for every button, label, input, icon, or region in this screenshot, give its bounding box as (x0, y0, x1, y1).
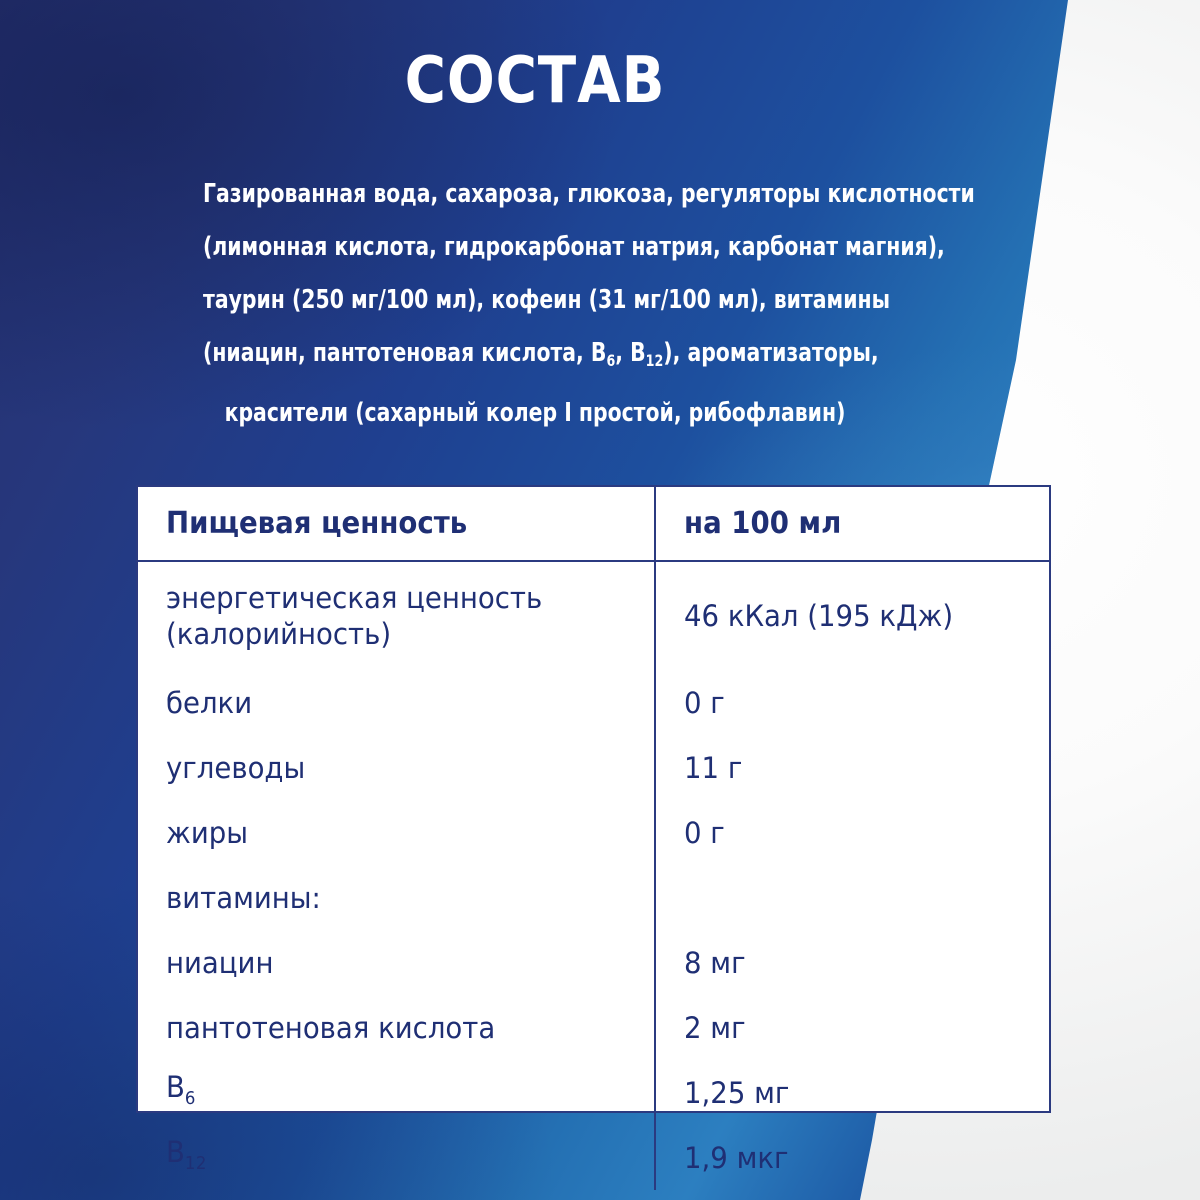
row-label-energy-line1: энергетическая ценность (166, 580, 542, 616)
table-header-row: Пищевая ценность на 100 мл (138, 487, 1049, 561)
vitamin-b6-subscript: 6 (606, 351, 615, 370)
row-label-pantothenic-acid-text: пантотеновая кислота (166, 1010, 495, 1046)
vitamin-b12-sub: 12 (185, 1153, 207, 1173)
row-label-carbohydrates: углеводы (138, 735, 655, 800)
table-row-vitamins-heading: витамины: (138, 865, 1049, 930)
row-value-pantothenic-acid: 2 мг (655, 995, 1049, 1060)
row-value-vitamin-b6: 1,25 мг (655, 1060, 1049, 1125)
row-value-pantothenic-acid-text: 2 мг (684, 1010, 746, 1046)
vitamin-b12-subscript: 12 (646, 351, 664, 370)
table-row-vitamin-b12: B12 1,9 мкг (138, 1125, 1049, 1190)
ingredients-line-4: (ниацин, пантотеновая кислота, B6, B12),… (203, 327, 867, 387)
table-row-energy: энергетическая ценность (калорийность) 4… (138, 561, 1049, 670)
row-label-vitamin-b12: B12 (138, 1125, 655, 1190)
row-value-protein: 0 г (655, 670, 1049, 735)
row-label-energy-line2: (калорийность) (166, 616, 542, 652)
row-value-fats: 0 г (655, 800, 1049, 865)
row-value-vitamin-b12-text: 1,9 мкг (684, 1140, 788, 1176)
row-label-niacin: ниацин (138, 930, 655, 995)
ingredients-paragraph: Газированная вода, сахароза, глюкоза, ре… (203, 168, 867, 440)
vitamin-b6-sub: 6 (185, 1088, 196, 1108)
table-row-vitamin-b6: B6 1,25 мг (138, 1060, 1049, 1125)
row-label-vitamin-b12-text: B12 (166, 1134, 207, 1182)
nutrition-table: Пищевая ценность на 100 мл энергетическа… (136, 485, 1051, 1113)
ingredients-line-2: (лимонная кислота, гидрокарбонат натрия,… (203, 221, 867, 274)
table-row-carbohydrates: углеводы 11 г (138, 735, 1049, 800)
row-label-energy: энергетическая ценность (калорийность) (138, 561, 655, 670)
row-value-fats-text: 0 г (684, 815, 725, 851)
header-label-text: Пищевая ценность (166, 506, 467, 541)
table-row-niacin: ниацин 8 мг (138, 930, 1049, 995)
row-label-vitamins-heading: витамины: (138, 865, 655, 930)
nutrition-label-canvas: СОСТАВ Газированная вода, сахароза, глюк… (0, 0, 1200, 1200)
header-value: на 100 мл (655, 487, 1049, 561)
row-value-protein-text: 0 г (684, 685, 725, 721)
row-value-carbohydrates-text: 11 г (684, 750, 742, 786)
ingredients-line-3: таурин (250 мг/100 мл), кофеин (31 мг/10… (203, 274, 867, 327)
row-label-protein: белки (138, 670, 655, 735)
table-row-fats: жиры 0 г (138, 800, 1049, 865)
row-label-fats: жиры (138, 800, 655, 865)
table-row-pantothenic-acid: пантотеновая кислота 2 мг (138, 995, 1049, 1060)
row-label-fats-text: жиры (166, 815, 248, 851)
ingredients-line-1: Газированная вода, сахароза, глюкоза, ре… (203, 168, 867, 221)
row-value-carbohydrates: 11 г (655, 735, 1049, 800)
page-title: СОСТАВ (64, 44, 1006, 118)
row-label-vitamin-b6: B6 (138, 1060, 655, 1125)
row-value-vitamins-heading (655, 865, 1049, 930)
ingredients-line-4-c: ), ароматизаторы, (663, 338, 878, 368)
row-label-vitamin-b6-text: B6 (166, 1069, 196, 1117)
row-label-energy-text: энергетическая ценность (калорийность) (166, 580, 542, 652)
header-value-text: на 100 мл (684, 506, 841, 541)
row-value-niacin: 8 мг (655, 930, 1049, 995)
ingredients-line-4-b: , B (615, 338, 645, 368)
row-label-niacin-text: ниацин (166, 945, 273, 981)
row-value-energy: 46 кКал (195 кДж) (655, 561, 1049, 670)
row-label-vitamins-heading-text: витамины: (166, 880, 321, 916)
ingredients-line-5: красители (сахарный колер I простой, риб… (203, 387, 867, 440)
table-row-protein: белки 0 г (138, 670, 1049, 735)
vitamin-b12-base: B (166, 1135, 185, 1169)
row-label-protein-text: белки (166, 685, 252, 721)
header-label: Пищевая ценность (138, 487, 655, 561)
row-value-niacin-text: 8 мг (684, 945, 746, 981)
vitamin-b6-base: B (166, 1070, 185, 1104)
row-value-energy-text: 46 кКал (195 кДж) (684, 598, 953, 634)
row-label-carbohydrates-text: углеводы (166, 750, 305, 786)
row-value-vitamin-b6-text: 1,25 мг (684, 1075, 789, 1111)
row-label-pantothenic-acid: пантотеновая кислота (138, 995, 655, 1060)
ingredients-line-4-a: (ниацин, пантотеновая кислота, B (203, 338, 606, 368)
row-value-vitamin-b12: 1,9 мкг (655, 1125, 1049, 1190)
